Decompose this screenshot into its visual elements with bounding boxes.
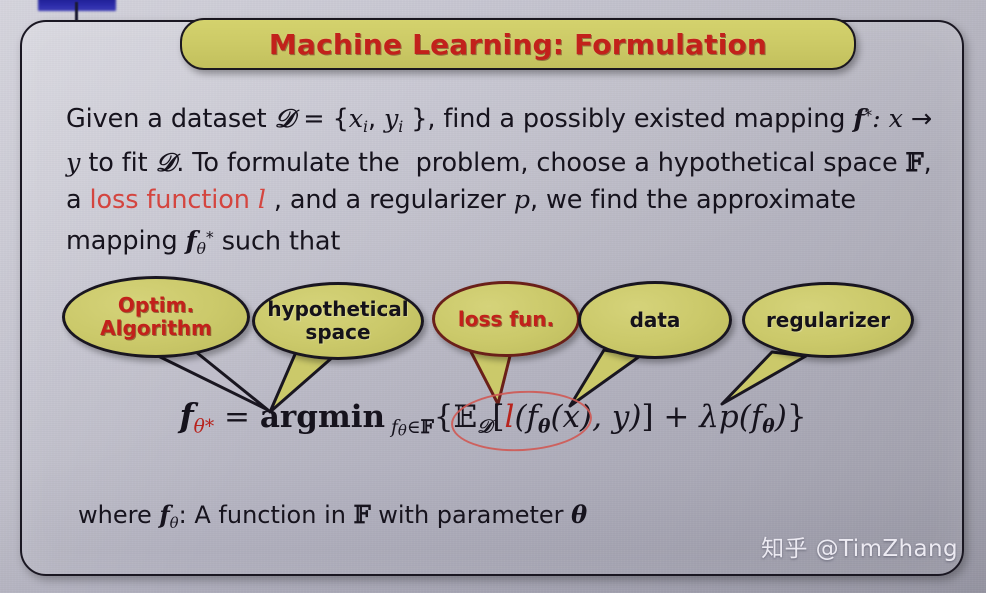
math-x: x <box>349 104 363 134</box>
body-line-4: such that <box>222 226 341 256</box>
formula-loss-args: (fθ(x), y) <box>514 399 641 435</box>
formula-theta-star: θ* <box>194 417 215 438</box>
callout-data-label: data <box>630 309 681 332</box>
math-f-star: f <box>853 104 864 134</box>
math-y: y <box>384 104 398 134</box>
page-title: Machine Learning: Formulation <box>269 28 767 61</box>
formula-lambda: λp <box>699 399 739 435</box>
callout-loss-function[interactable]: loss fun. <box>432 281 580 357</box>
formula-expectation-subscript: 𝒟 <box>477 417 492 438</box>
callout-optim-algorithm-label: Optim.Algorithm <box>100 294 212 340</box>
slide-body-paragraph: Given a dataset 𝒟 = {xi, yi }, find a po… <box>66 96 936 267</box>
main-formula: fθ* = argmin fθ∈𝔽{𝔼𝒟[l(fθ(x), y)] + λp(f… <box>0 396 986 439</box>
body-function-word: function l <box>146 185 265 215</box>
projector-blue-tick <box>75 2 78 21</box>
callout-hypothetical-space-label: hypotheticalspace <box>267 298 408 344</box>
body-line-3: function l , and a regularizer p, we fin… <box>66 185 856 257</box>
where-f-theta: f <box>159 500 169 529</box>
slide-title-pill: Machine Learning: Formulation <box>180 18 856 70</box>
formula-loss-l: l <box>505 399 515 435</box>
formula-expectation: 𝔼 <box>454 399 478 435</box>
where-theta: θ <box>571 500 587 529</box>
formula-f: f <box>179 396 193 435</box>
formula-argmin: argmin <box>260 399 385 435</box>
math-frak-F: 𝔽 <box>906 148 924 178</box>
formula-where-note: where fθ: A function in 𝔽 with parameter… <box>78 500 587 532</box>
callout-regularizer[interactable]: regularizer <box>742 282 914 358</box>
where-frak-F: 𝔽 <box>354 500 371 529</box>
callout-loss-function-label: loss fun. <box>458 308 554 331</box>
formula-argmin-subscript: fθ∈𝔽 <box>385 417 434 438</box>
formula-regularizer-arg: (fθ) <box>739 399 787 435</box>
watermark: 知乎 @TimZhang <box>761 529 958 563</box>
callout-data[interactable]: data <box>578 281 732 359</box>
callout-regularizer-label: regularizer <box>766 309 890 332</box>
body-loss-word: loss <box>90 185 139 215</box>
math-f-theta-star: f <box>186 226 197 256</box>
callout-optim-algorithm[interactable]: Optim.Algorithm <box>62 276 250 358</box>
math-dataset-D: 𝒟 <box>275 104 296 134</box>
math-p: p <box>514 185 530 215</box>
callout-hypothetical-space[interactable]: hypotheticalspace <box>252 282 424 360</box>
math-dataset-D2: 𝒟 <box>156 148 177 178</box>
